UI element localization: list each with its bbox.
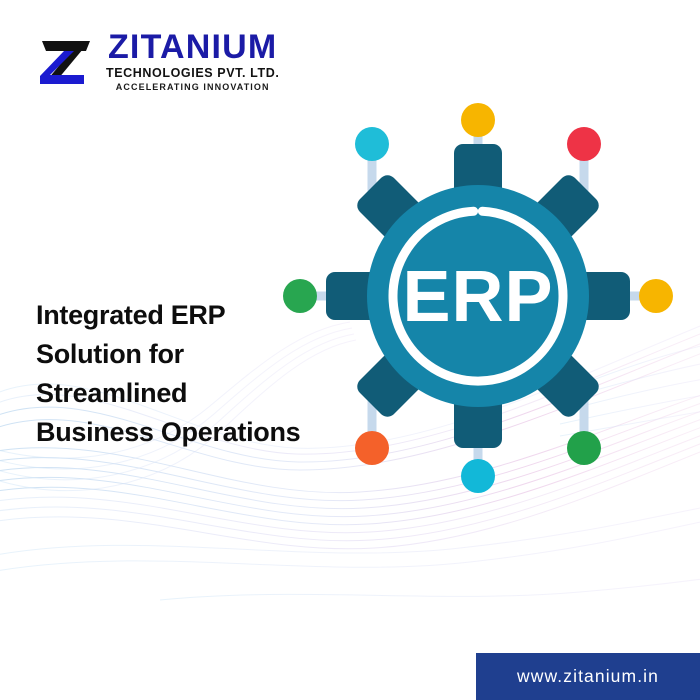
- website-url-bar[interactable]: www.zitanium.in: [476, 653, 700, 700]
- node-top: [461, 103, 495, 137]
- node-top-right: [567, 127, 601, 161]
- headline-line-3: Streamlined: [36, 374, 366, 413]
- headline-line-2: Solution for: [36, 335, 366, 374]
- website-url-text: www.zitanium.in: [517, 666, 659, 687]
- node-bottom: [461, 459, 495, 493]
- node-right: [639, 279, 673, 313]
- brand-wordmark: ZITANIUM: [108, 30, 278, 64]
- brand-tagline: ACCELERATING INNOVATION: [116, 83, 270, 92]
- brand-wordmark-group: ZITANIUM TECHNOLOGIES PVT. LTD. ACCELERA…: [106, 28, 279, 92]
- headline-line-1: Integrated ERP: [36, 296, 366, 335]
- brand-subtitle: TECHNOLOGIES PVT. LTD.: [106, 67, 279, 80]
- headline-block: Integrated ERP Solution for Streamlined …: [36, 296, 366, 452]
- zitanium-z-mark-icon: [34, 29, 96, 91]
- brand-logo[interactable]: ZITANIUM TECHNOLOGIES PVT. LTD. ACCELERA…: [34, 28, 279, 92]
- gear-center-label: ERP: [402, 257, 553, 337]
- node-top-left: [355, 127, 389, 161]
- promo-poster: ZITANIUM TECHNOLOGIES PVT. LTD. ACCELERA…: [0, 0, 700, 700]
- headline-line-4: Business Operations: [36, 413, 366, 452]
- node-bottom-right: [567, 431, 601, 465]
